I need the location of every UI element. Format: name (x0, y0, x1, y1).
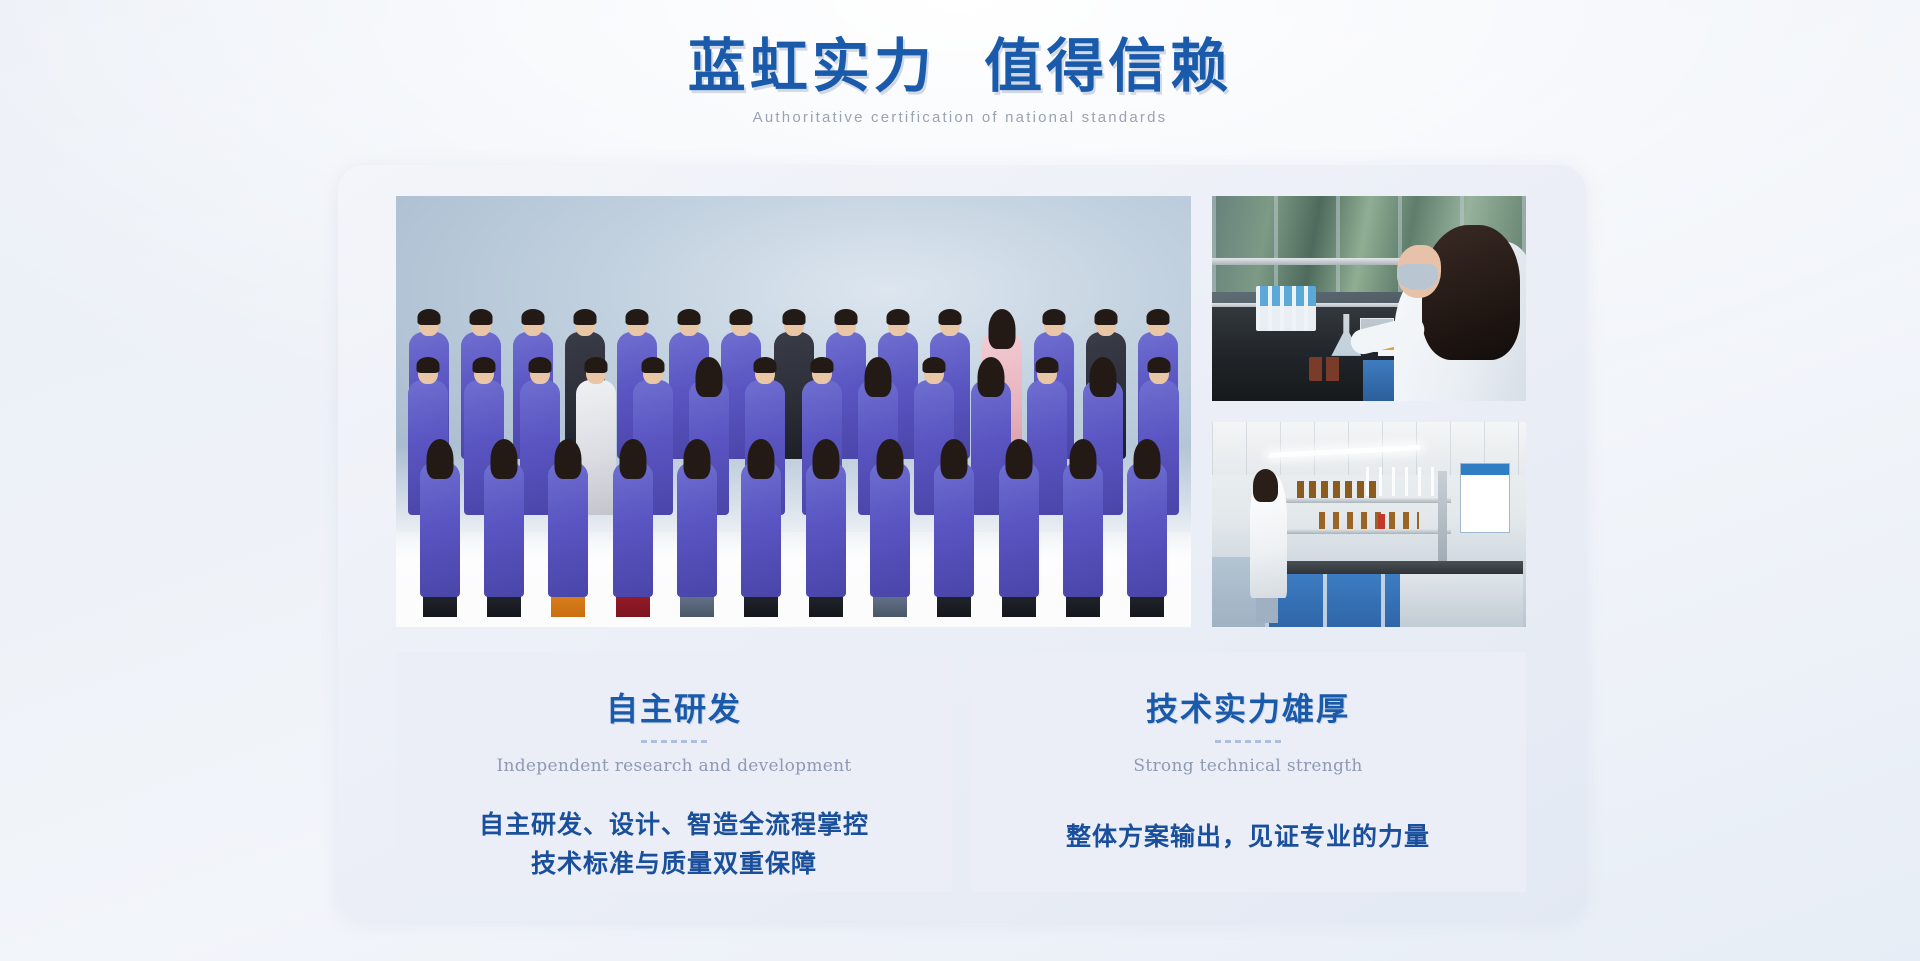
page-subtitle: Authoritative certification of national … (0, 109, 1920, 126)
lab-technician-pipetting-photo (1212, 196, 1526, 401)
card-english-subtitle: Strong technical strength (970, 756, 1526, 776)
page-header: 蓝虹实力 值得信赖 Authoritative certification of… (0, 0, 1920, 126)
card-body-line: 整体方案输出，见证专业的力量 (970, 818, 1526, 857)
blue-base-cabinets (1265, 574, 1416, 627)
content-panel: 自主研发 Independent research and developmen… (338, 165, 1586, 921)
feature-card-technical-strength: 技术实力雄厚 Strong technical strength 整体方案输出，… (970, 652, 1526, 892)
amber-reagent-bottles (1309, 357, 1343, 381)
dashed-divider-icon (641, 740, 707, 743)
dashed-divider-icon (1215, 740, 1281, 743)
laboratory-room-photo (1212, 422, 1526, 627)
room-technician-hair (1253, 469, 1278, 502)
feature-card-independent-rd: 自主研发 Independent research and developmen… (396, 652, 952, 892)
card-body-text: 整体方案输出，见证专业的力量 (970, 818, 1526, 857)
card-title: 技术实力雄厚 (970, 684, 1526, 730)
card-title: 自主研发 (396, 684, 952, 730)
red-reagent-bottle (1378, 514, 1385, 528)
pipette-rack (1256, 286, 1316, 331)
reagent-bottles-upper (1297, 481, 1379, 497)
card-body-text: 自主研发、设计、智造全流程掌控 技术标准与质量双重保障 (396, 806, 952, 884)
face-mask (1397, 264, 1438, 291)
card-body-line: 技术标准与质量双重保障 (396, 845, 952, 884)
group-photo-back-row (396, 312, 1191, 459)
card-body-line: 自主研发、设计、智造全流程掌控 (396, 806, 952, 845)
group-photo-front-row (396, 442, 1191, 597)
media-gallery (396, 196, 1526, 627)
page-title: 蓝虹实力 值得信赖 (0, 30, 1920, 103)
reagent-shelf-upper (1262, 498, 1450, 503)
feature-cards: 自主研发 Independent research and developmen… (396, 652, 1526, 892)
technician-hair (1422, 225, 1519, 360)
card-english-subtitle: Independent research and development (396, 756, 952, 776)
side-photo-column (1212, 196, 1526, 627)
reagent-bottles-lower (1319, 512, 1419, 528)
safety-notice-poster (1460, 463, 1510, 533)
reagent-shelf-lower (1262, 529, 1450, 534)
company-team-group-photo (396, 196, 1191, 627)
white-base-cabinets (1400, 574, 1522, 627)
